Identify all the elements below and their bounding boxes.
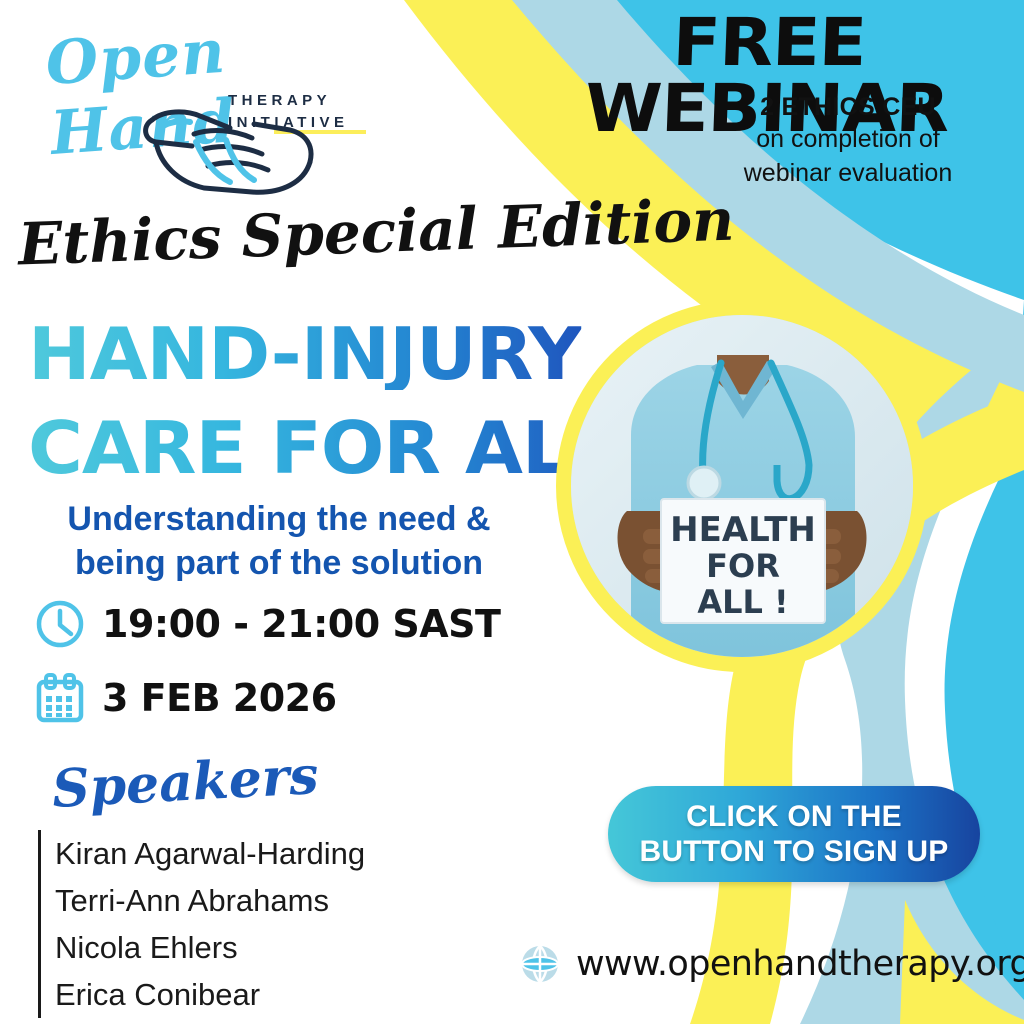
healthcare-worker-photo: HEALTH FOR ALL ! [571,315,913,657]
hero-photo-circle: HEALTH FOR ALL ! [556,300,928,672]
speaker-list: Kiran Agarwal-Harding Terri-Ann Abrahams… [38,830,365,1018]
list-item: Kiran Agarwal-Harding [55,830,365,877]
title-line-1: HAND-INJURY [28,318,581,390]
globe-icon [518,942,562,986]
subtitle: Understanding the need & being part of t… [44,498,514,585]
website-row[interactable]: www.openhandtherapy.org [518,942,1024,986]
list-item: Erica Conibear [55,971,365,1018]
ceu-condition-line1: on completion of [680,123,1016,157]
calendar-icon [34,672,86,724]
webinar-date-label: 3 FEB 2026 [102,676,337,720]
sign-text-line1: HEALTH [670,510,816,550]
cta-line-2: BUTTON TO SIGN UP [640,834,949,869]
sign-text-line3: ALL ! [697,583,788,621]
list-item: Nicola Ehlers [55,924,365,971]
list-item: Terri-Ann Abrahams [55,877,365,924]
sign-text-line2: FOR [706,547,780,585]
sign-up-button[interactable]: CLICK ON THE BUTTON TO SIGN UP [608,786,980,882]
ceu-info-block: 2 ETHICS CEU on completion of webinar ev… [680,92,1016,191]
webinar-time-row: 19:00 - 21:00 SAST [34,598,500,650]
poster-canvas: Open Hand THERAPY INITIATIVE FR [0,0,1024,1024]
subtitle-line-1: Understanding the need & [44,498,514,542]
cta-line-1: CLICK ON THE [686,799,902,834]
title-line-2: CARE FOR ALL [28,412,615,484]
webinar-time-label: 19:00 - 21:00 SAST [102,602,500,646]
clock-icon [34,598,86,650]
subtitle-line-2: being part of the solution [44,542,514,586]
website-url[interactable]: www.openhandtherapy.org [576,944,1024,984]
brand-logo: Open Hand THERAPY INITIATIVE [28,8,368,198]
open-hand-icon [134,90,324,198]
webinar-date-row: 3 FEB 2026 [34,672,337,724]
ceu-credit-label: 2 ETHICS CEU [680,92,1016,123]
